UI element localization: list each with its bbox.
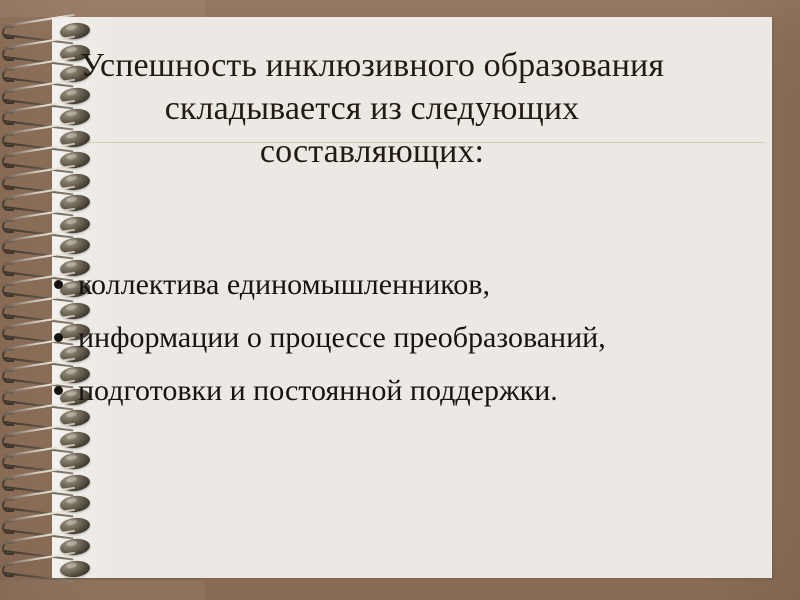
- list-item: информации о процессе преобразований,: [48, 317, 708, 359]
- spiral-ring-wire-tip: [2, 413, 14, 426]
- spiral-ring-wire-tip: [2, 521, 14, 534]
- bullet-dot-icon: [54, 386, 63, 395]
- spiral-ring-wire-tip: [2, 564, 14, 577]
- spiral-ring-wire-tip: [2, 392, 14, 405]
- backdrop-top-left-patch: [0, 0, 205, 17]
- spiral-ring-wire-tip: [2, 542, 14, 555]
- spiral-ring-wire-tip: [2, 48, 14, 61]
- spiral-ring-wire-tip: [2, 284, 14, 297]
- bullet-list: коллектива единомышленников, информации …: [48, 264, 708, 412]
- spiral-ring-wire-tip: [2, 220, 14, 233]
- list-item-label: подготовки и постоянной поддержки.: [78, 370, 708, 412]
- list-item: подготовки и постоянной поддержки.: [48, 370, 708, 412]
- slide-title: Успешность инклюзивного образования скла…: [52, 44, 692, 173]
- list-item: коллектива единомышленников,: [48, 264, 708, 306]
- spiral-ring-wire-tip: [2, 478, 14, 491]
- list-item-label: коллектива единомышленников,: [78, 264, 708, 306]
- spiral-ring-wire-tip: [2, 306, 14, 319]
- spiral-ring-wire-tip: [2, 198, 14, 211]
- slide-canvas: Успешность инклюзивного образования скла…: [0, 0, 800, 600]
- spiral-ring-wire-tip: [2, 499, 14, 512]
- spiral-ring-wire-tip: [2, 349, 14, 362]
- spiral-ring-wire-tip: [2, 370, 14, 383]
- spiral-ring-wire-tip: [2, 177, 14, 190]
- spiral-ring-wire-tip: [2, 241, 14, 254]
- backdrop-bottom-left-patch: [0, 580, 205, 600]
- spiral-ring-wire-tip: [2, 134, 14, 147]
- bullet-dot-icon: [54, 333, 63, 342]
- spiral-ring-wire-tip: [2, 327, 14, 340]
- bullet-dot-icon: [54, 280, 63, 289]
- spiral-ring-wire-tip: [2, 263, 14, 276]
- spiral-ring-wire-tip: [2, 435, 14, 448]
- list-item-label: информации о процессе преобразований,: [78, 317, 708, 359]
- spiral-ring-wire-tip: [2, 91, 14, 104]
- spiral-ring-wire-tip: [2, 69, 14, 82]
- spiral-ring-wire-tip: [2, 456, 14, 469]
- spiral-ring-wire-tip: [2, 26, 14, 39]
- spiral-ring-wire-tip: [2, 112, 14, 125]
- spiral-ring-wire-tip: [2, 155, 14, 168]
